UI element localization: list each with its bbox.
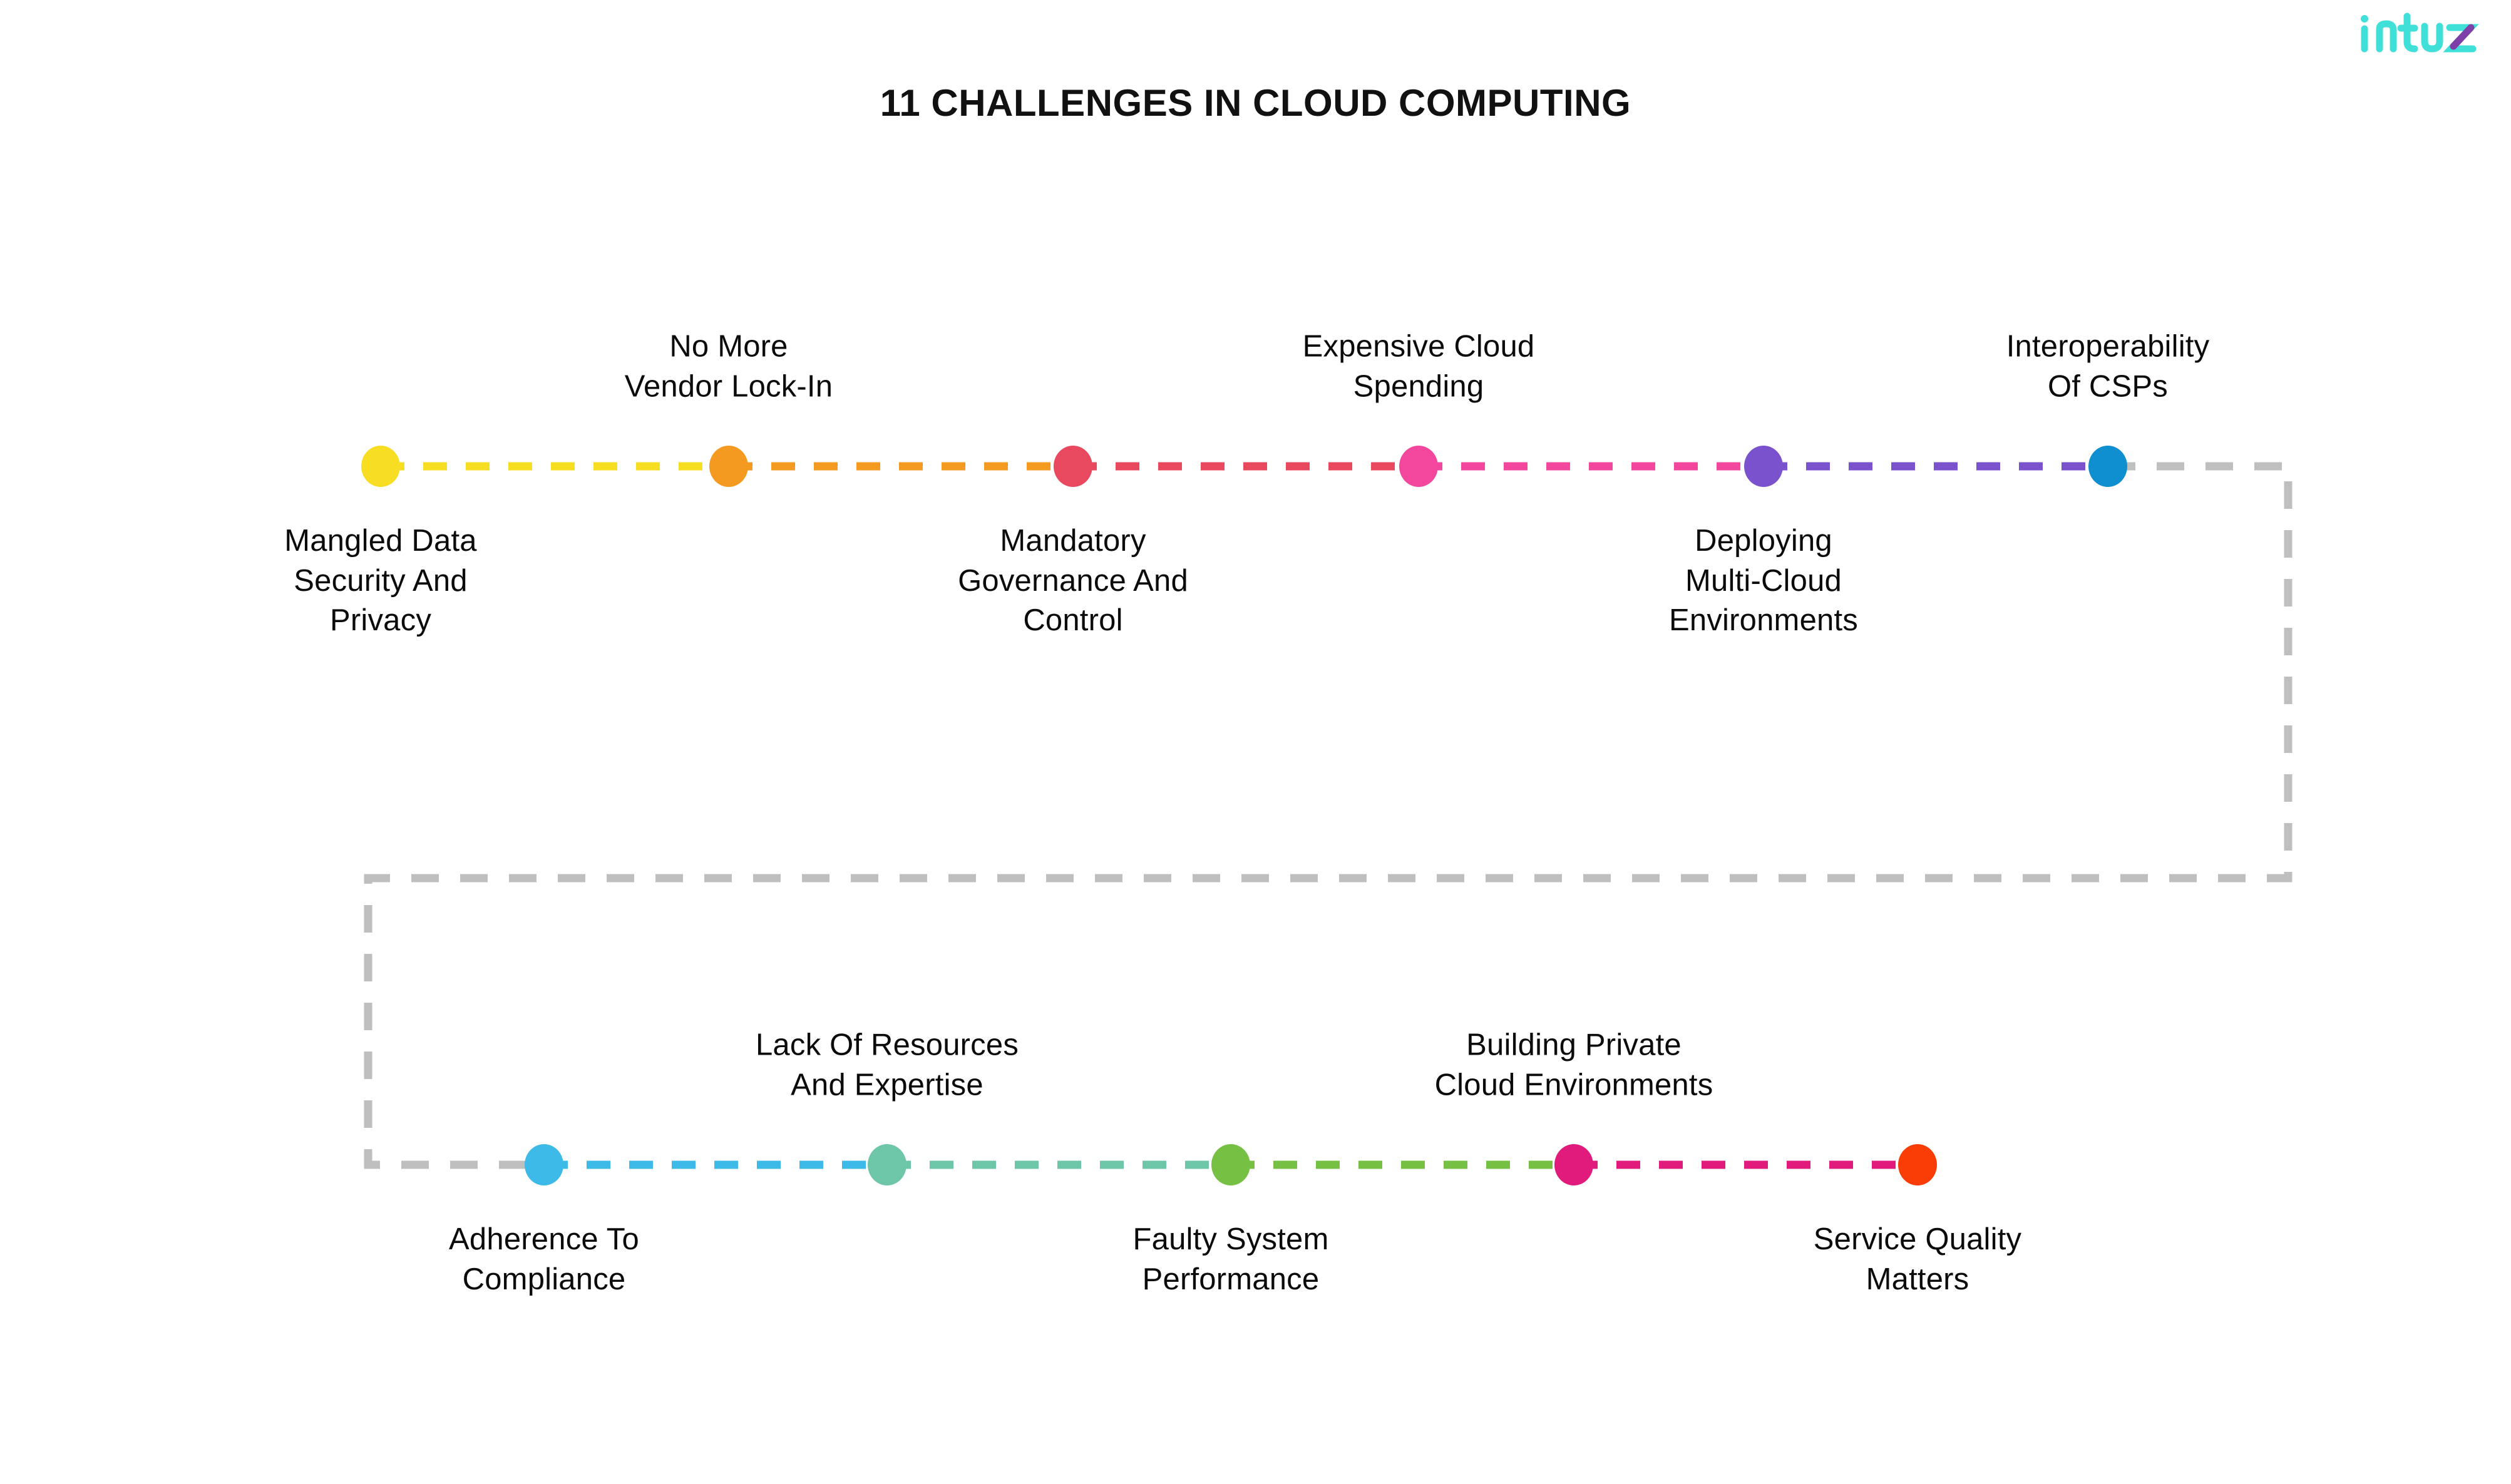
timeline-node-dot-9[interactable]: [1211, 1144, 1250, 1185]
timeline-node-dot-5[interactable]: [1744, 446, 1783, 487]
timeline-nodes: [361, 446, 2127, 1185]
timeline-node-label-1: Mangled Data Security And Privacy: [284, 521, 476, 641]
timeline-node-label-9: Faulty System Performance: [1132, 1220, 1328, 1299]
timeline-node-dot-2[interactable]: [709, 446, 748, 487]
timeline-node-dot-8[interactable]: [868, 1144, 906, 1185]
timeline-connector-path: [368, 466, 2288, 1165]
timeline-node-label-2: No More Vendor Lock-In: [625, 327, 833, 407]
timeline-node-label-7: Adherence To Compliance: [449, 1220, 639, 1299]
timeline-node-dot-4[interactable]: [1399, 446, 1438, 487]
timeline-node-label-3: Mandatory Governance And Control: [958, 521, 1188, 641]
timeline-node-label-5: Deploying Multi-Cloud Environments: [1669, 521, 1858, 641]
timeline-node-dot-11[interactable]: [1898, 1144, 1937, 1185]
timeline-node-dot-3[interactable]: [1054, 446, 1092, 487]
timeline-node-label-8: Lack Of Resources And Expertise: [756, 1026, 1019, 1105]
timeline-node-dot-6[interactable]: [2088, 446, 2127, 487]
timeline-node-label-4: Expensive Cloud Spending: [1303, 327, 1535, 407]
timeline-node-dot-10[interactable]: [1554, 1144, 1593, 1185]
timeline-node-label-6: Interoperability Of CSPs: [2006, 327, 2210, 407]
timeline-node-dot-7[interactable]: [525, 1144, 563, 1185]
timeline-node-label-11: Service Quality Matters: [1814, 1220, 2022, 1299]
timeline-connector: [368, 466, 2288, 1165]
timeline-node-label-10: Building Private Cloud Environments: [1435, 1026, 1713, 1105]
timeline-node-dot-1[interactable]: [361, 446, 400, 487]
